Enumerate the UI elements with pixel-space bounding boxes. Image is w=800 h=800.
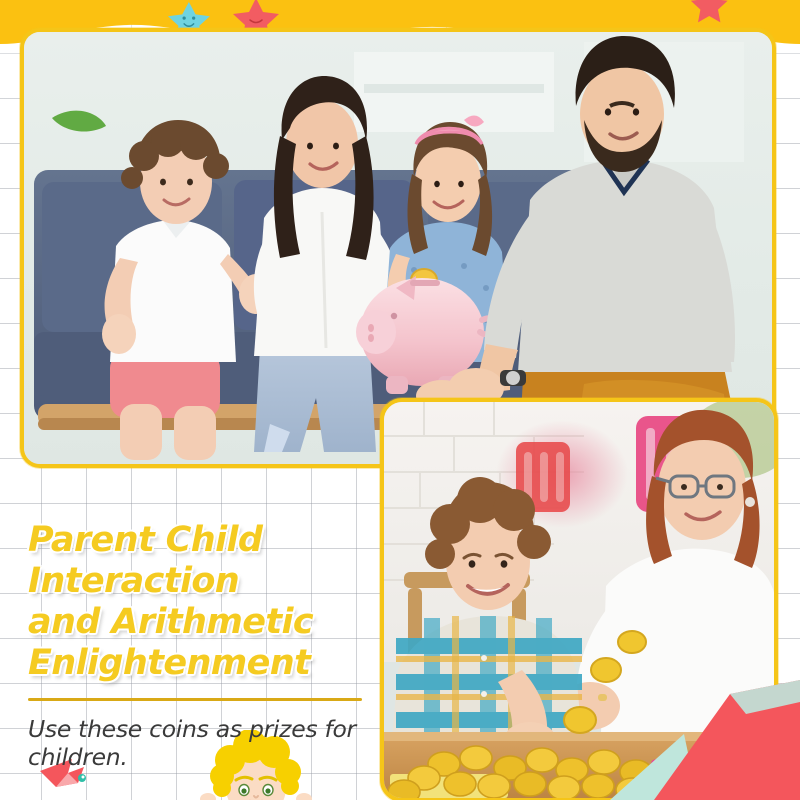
held-coin [564,707,596,733]
held-coin-3 [618,631,646,653]
page-subtitle: Use these coins as prizes for children. [28,715,373,772]
coins-scene-illustration [384,402,774,798]
text-block: Parent Child Interaction and Arithmetic … [28,520,378,772]
poster-canvas: Parent Child Interaction and Arithmetic … [0,0,800,800]
page-title: Parent Child Interaction and Arithmetic … [28,520,378,684]
title-divider [28,698,362,701]
held-coin-2 [591,658,621,682]
photo-coins-activity-image [384,402,774,798]
photo-coins-activity [380,398,778,800]
